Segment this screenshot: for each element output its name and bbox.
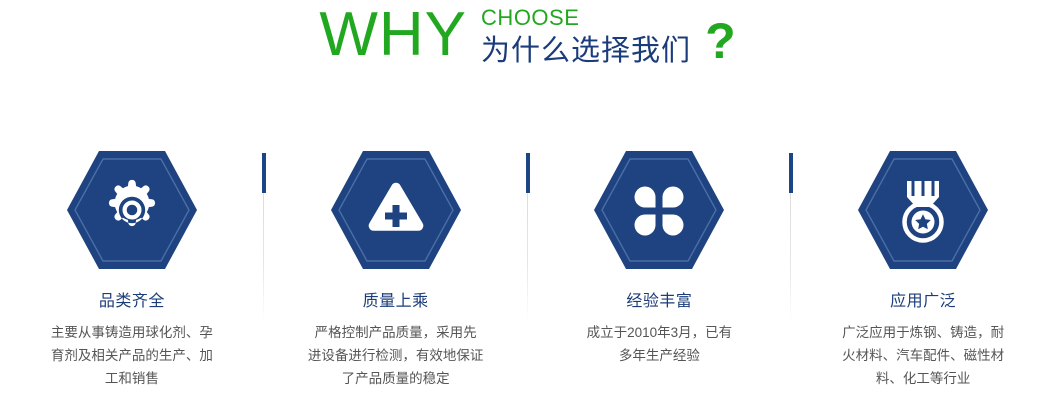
heading-choose: CHOOSE: [481, 6, 691, 30]
feature-desc-line: 火材料、汽车配件、磁性材: [816, 344, 1031, 367]
feature-title-2: 质量上乘: [363, 292, 429, 312]
feature-column-2: 质量上乘 严格控制产品质量，采用先 进设备进行检测，有效地保证 了产品质量的稳定: [264, 150, 528, 416]
feature-title-1: 品类齐全: [99, 292, 165, 312]
feature-desc-4: 广泛应用于炼钢、铸造，耐 火材料、汽车配件、磁性材 料、化工等行业: [816, 321, 1031, 390]
feature-desc-line: 主要从事铸造用球化剂、孕: [24, 321, 239, 344]
feature-desc-line: 严格控制产品质量，采用先: [288, 321, 503, 344]
heading-text-stack: CHOOSE 为什么选择我们: [481, 2, 691, 68]
feature-columns: 品类齐全 主要从事铸造用球化剂、孕 育剂及相关产品的生产、加 工和销售 质量上乘…: [0, 150, 1055, 416]
feature-column-3: 经验丰富 成立于2010年3月，已有 多年生产经验: [528, 150, 792, 416]
heading-question-mark: ?: [705, 2, 736, 68]
feature-desc-line: 育剂及相关产品的生产、加: [24, 344, 239, 367]
feature-desc-2: 严格控制产品质量，采用先 进设备进行检测，有效地保证 了产品质量的稳定: [288, 321, 503, 390]
feature-desc-line: 成立于2010年3月，已有: [552, 321, 767, 344]
feature-column-1: 品类齐全 主要从事铸造用球化剂、孕 育剂及相关产品的生产、加 工和销售: [0, 150, 264, 416]
page-heading: WHY CHOOSE 为什么选择我们 ?: [0, 0, 1055, 100]
feature-desc-line: 多年生产经验: [552, 344, 767, 367]
medal-icon: [857, 150, 989, 270]
feature-desc-line: 料、化工等行业: [816, 367, 1031, 390]
clover-icon: [593, 150, 725, 270]
feature-title-3: 经验丰富: [626, 292, 692, 312]
feature-desc-line: 进设备进行检测，有效地保证: [288, 344, 503, 367]
gear-icon: [66, 150, 198, 270]
feature-title-4: 应用广泛: [890, 292, 956, 312]
heading-why: WHY: [319, 2, 467, 68]
feature-desc-3: 成立于2010年3月，已有 多年生产经验: [552, 321, 767, 367]
feature-desc-1: 主要从事铸造用球化剂、孕 育剂及相关产品的生产、加 工和销售: [24, 321, 239, 390]
feature-desc-line: 了产品质量的稳定: [288, 367, 503, 390]
heading-inner: WHY CHOOSE 为什么选择我们 ?: [319, 0, 735, 68]
feature-desc-line: 工和销售: [24, 367, 239, 390]
triangle-plus-icon: [330, 150, 462, 270]
feature-desc-line: 广泛应用于炼钢、铸造，耐: [816, 321, 1031, 344]
heading-chinese-title: 为什么选择我们: [481, 34, 691, 68]
feature-column-4: 应用广泛 广泛应用于炼钢、铸造，耐 火材料、汽车配件、磁性材 料、化工等行业: [791, 150, 1055, 416]
